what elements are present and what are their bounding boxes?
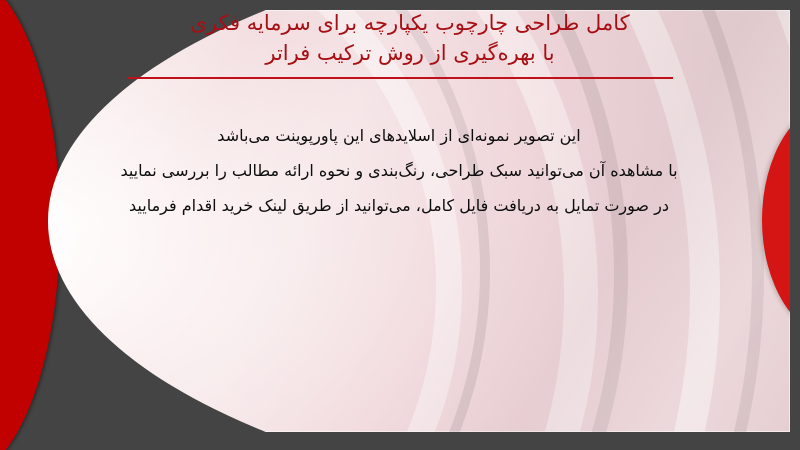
title-line-2: با بهره‌گیری از روش ترکیب فراتر — [60, 38, 760, 68]
body-line-2: با مشاهده آن می‌توانید سبک طراحی، رنگ‌بن… — [40, 153, 758, 188]
title-underline-rule — [128, 77, 673, 79]
presentation-slide: کامل طراحی چارچوب یکپارچه برای سرمایه فک… — [0, 0, 800, 450]
slide-title: کامل طراحی چارچوب یکپارچه برای سرمایه فک… — [60, 8, 760, 68]
right-red-lens-shape — [762, 102, 790, 338]
body-line-1: این تصویر نمونه‌ای از اسلایدهای این پاور… — [40, 118, 758, 153]
slide-body-text: این تصویر نمونه‌ای از اسلایدهای این پاور… — [40, 118, 758, 223]
title-line-1: کامل طراحی چارچوب یکپارچه برای سرمایه فک… — [60, 8, 760, 38]
body-line-3: در صورت تمایل به دریافت فایل کامل، می‌تو… — [40, 188, 758, 223]
